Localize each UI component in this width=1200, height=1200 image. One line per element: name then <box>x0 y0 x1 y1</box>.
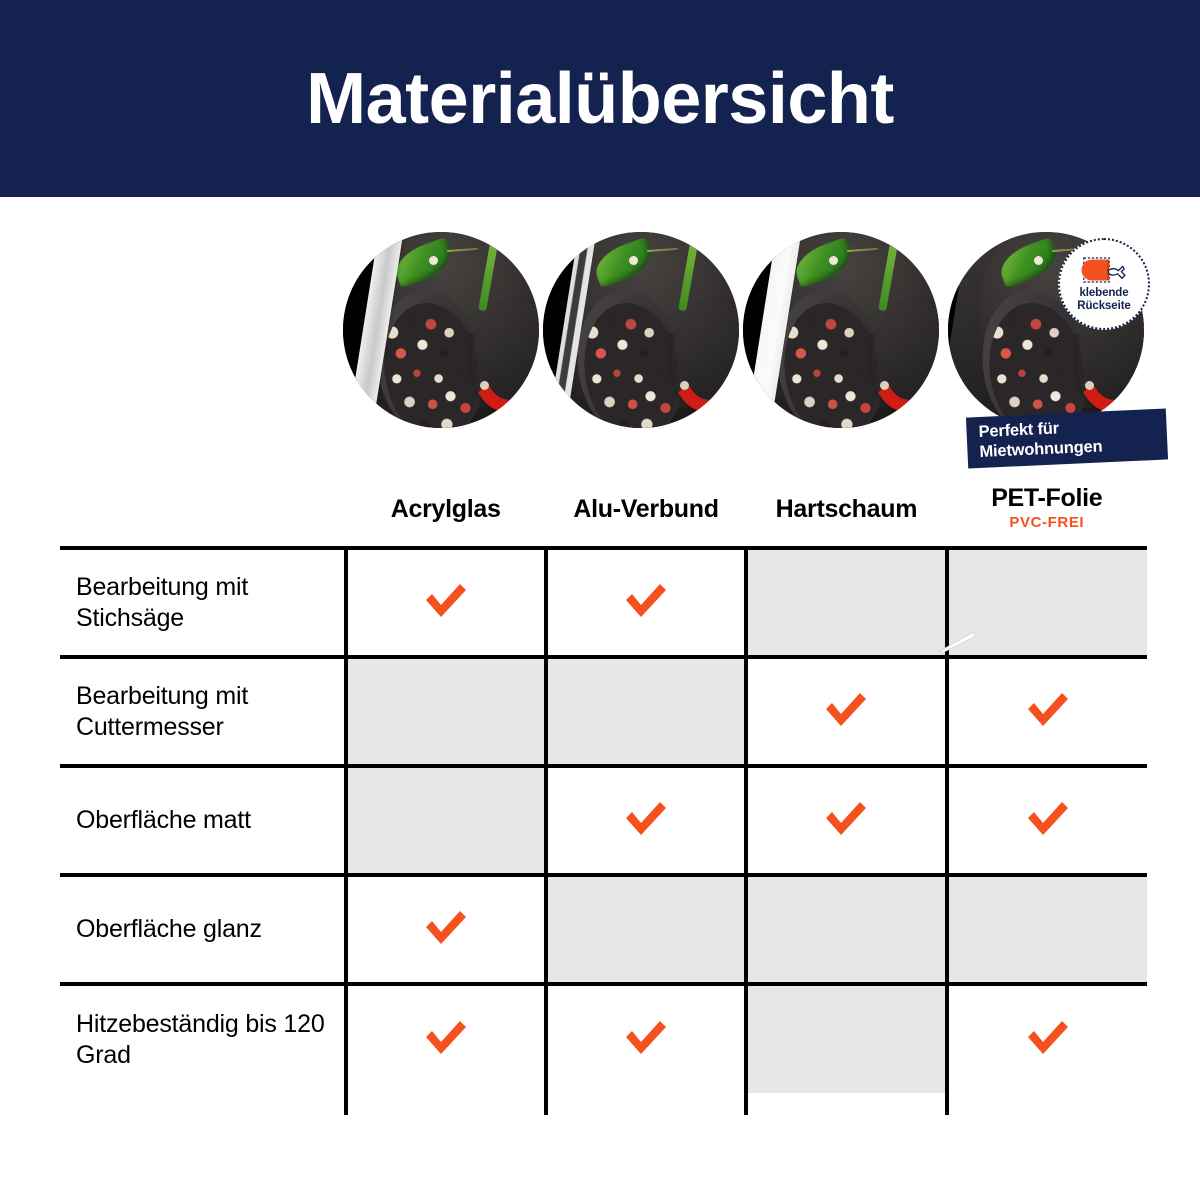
cell-cuttermesser-pet-folie <box>947 657 1147 766</box>
cell-hitze-hartschaum <box>746 984 946 1093</box>
column-header-alu-verbund: Alu-Verbund <box>546 472 746 548</box>
cell-glanz-alu-verbund <box>546 875 746 984</box>
check-icon <box>623 1017 669 1057</box>
column-header-label: PET-Folie <box>947 485 1147 512</box>
seed <box>429 256 438 265</box>
table-bottom-stubs <box>60 1093 1147 1115</box>
cell-glanz-pet-folie <box>947 875 1147 984</box>
row-label-cuttermesser: Bearbeitung mit Cuttermesser <box>60 657 346 766</box>
product-photo <box>543 232 739 428</box>
row-label-hitzebestaendig: Hitzebeständig bis 120 Grad <box>60 984 346 1093</box>
column-header-label: Alu-Verbund <box>546 496 746 523</box>
stub-cell <box>346 1093 546 1115</box>
stub-cell <box>60 1093 346 1115</box>
check-icon <box>1025 689 1071 729</box>
check-icon <box>623 798 669 838</box>
table-row: Oberfläche matt <box>60 766 1147 875</box>
cell-hitze-acrylglas <box>346 984 546 1093</box>
stub-cell <box>947 1093 1147 1115</box>
row-label-oberflaeche-glanz: Oberfläche glanz <box>60 875 346 984</box>
mietwohnungen-ribbon: Perfekt für Mietwohnungen <box>966 408 1168 468</box>
table-header-row: Acrylglas Alu-Verbund Hartschaum PET-Fol… <box>60 472 1147 548</box>
page-title: Materialübersicht <box>306 63 894 135</box>
cell-matt-alu-verbund <box>546 766 746 875</box>
ribbon-tail <box>938 631 974 653</box>
column-header-pet-folie: PET-Folie PVC-FREI <box>947 472 1147 548</box>
cell-stichsaege-alu-verbund <box>546 548 746 657</box>
seed <box>629 256 638 265</box>
adhesive-backing-icon <box>1081 255 1127 285</box>
material-comparison-table: Acrylglas Alu-Verbund Hartschaum PET-Fol… <box>60 472 1147 1094</box>
check-icon <box>823 689 869 729</box>
column-header-label: Hartschaum <box>746 496 946 523</box>
product-photo <box>743 232 939 428</box>
material-edge-shadow <box>948 232 971 428</box>
check-icon <box>1025 1017 1071 1057</box>
check-icon <box>823 798 869 838</box>
cell-matt-pet-folie <box>947 766 1147 875</box>
check-icon <box>423 1017 469 1057</box>
hartschaum-thumb[interactable] <box>743 232 939 428</box>
seed <box>1034 256 1043 265</box>
cell-stichsaege-pet-folie <box>947 548 1147 657</box>
cell-stichsaege-acrylglas <box>346 548 546 657</box>
sticker-badge-text: klebende Rückseite <box>1077 287 1130 313</box>
column-header-label: Acrylglas <box>346 496 546 523</box>
stub-cell <box>746 1093 946 1115</box>
sticker-line-1: klebende <box>1079 287 1128 299</box>
header-banner: Materialübersicht <box>0 0 1200 197</box>
material-overview-infographic: Materialübersicht <box>0 0 1200 1200</box>
product-photo <box>343 232 539 428</box>
cell-matt-acrylglas <box>346 766 546 875</box>
cell-hitze-alu-verbund <box>546 984 746 1093</box>
check-icon <box>423 580 469 620</box>
cell-matt-hartschaum <box>746 766 946 875</box>
sticker-line-2: Rückseite <box>1077 300 1130 312</box>
check-icon <box>623 580 669 620</box>
column-header-hartschaum: Hartschaum <box>746 472 946 548</box>
acrylglas-thumb[interactable] <box>343 232 539 428</box>
stub-cell <box>546 1093 746 1115</box>
column-header-acrylglas: Acrylglas <box>346 472 546 548</box>
check-icon <box>423 907 469 947</box>
cell-cuttermesser-hartschaum <box>746 657 946 766</box>
seed <box>829 256 838 265</box>
table-row: Bearbeitung mit Cuttermesser <box>60 657 1147 766</box>
cell-hitze-pet-folie <box>947 984 1147 1093</box>
klebende-rueckseite-badge: klebende Rückseite <box>1058 238 1150 330</box>
cell-stichsaege-hartschaum <box>746 548 946 657</box>
table-row: Oberfläche glanz <box>60 875 1147 984</box>
cell-glanz-acrylglas <box>346 875 546 984</box>
row-label-stichsaege: Bearbeitung mit Stichsäge <box>60 548 346 657</box>
header-empty-corner <box>60 472 346 548</box>
check-icon <box>1025 798 1071 838</box>
cell-cuttermesser-acrylglas <box>346 657 546 766</box>
alu-verbund-thumb[interactable] <box>543 232 739 428</box>
table-row: Bearbeitung mit Stichsäge <box>60 548 1147 657</box>
pvc-frei-badge: PVC-FREI <box>947 513 1147 533</box>
cell-cuttermesser-alu-verbund <box>546 657 746 766</box>
cell-glanz-hartschaum <box>746 875 946 984</box>
row-label-oberflaeche-matt: Oberfläche matt <box>60 766 346 875</box>
table-row: Hitzebeständig bis 120 Grad <box>60 984 1147 1093</box>
